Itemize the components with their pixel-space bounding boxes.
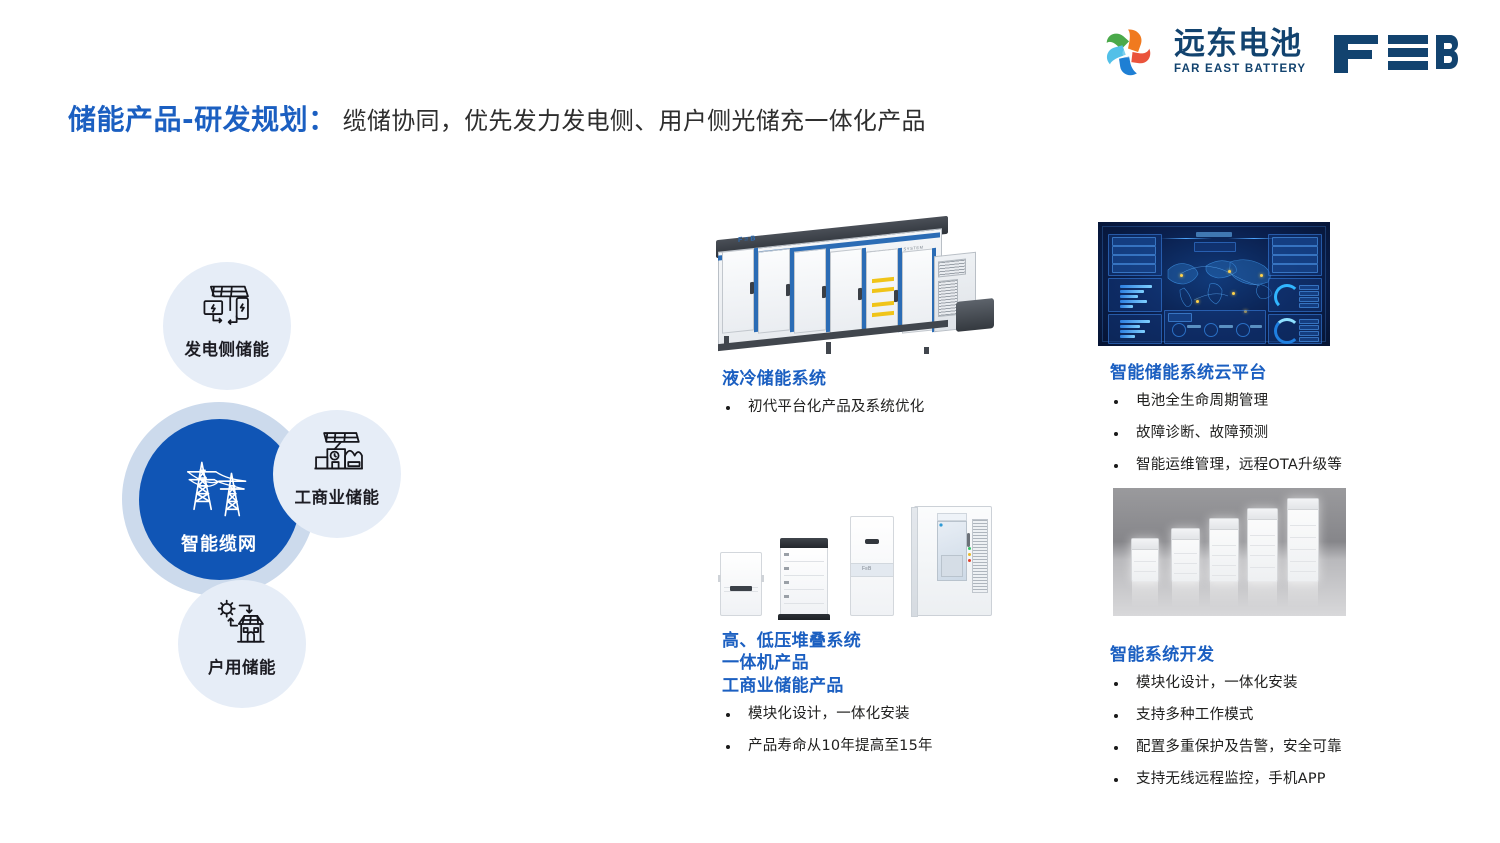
far-east-battery-pinwheel-logo-icon	[1100, 24, 1156, 80]
content-block-smart-system: 智能系统开发 模块化设计，一体化安装 支持多种工作模式 配置多重保护及告警，安全…	[1110, 644, 1342, 802]
solar-grid-storage-icon	[198, 280, 256, 332]
list-item: 支持多种工作模式	[1110, 705, 1342, 726]
page-title-main: 储能产品-研发规划：	[68, 98, 337, 138]
list-item: 模块化设计，一体化安装	[1110, 673, 1342, 694]
scenario-node-commercial-industrial[interactable]: 工商业储能	[273, 410, 401, 538]
block-heading-line: 智能储能系统云平台	[1110, 362, 1342, 384]
feb-wordmark-icon	[1332, 29, 1458, 75]
block-heading-line: 高、低压堆叠系统	[722, 630, 933, 652]
block-heading: 高、低压堆叠系统 一体机产品 工商业储能产品	[722, 630, 933, 697]
center-node-label: 智能缆网	[181, 530, 257, 556]
list-item: 配置多重保护及告警，安全可靠	[1110, 737, 1342, 758]
center-node-smart-cable-grid[interactable]: 智能缆网	[139, 419, 300, 580]
block-bullet-list: 电池全生命周期管理 故障诊断、故障预测 智能运维管理，远程OTA升级等	[1110, 391, 1342, 476]
block-heading: 智能储能系统云平台	[1110, 362, 1342, 384]
house-solar-sun-icon	[213, 598, 271, 650]
list-item: 故障诊断、故障预测	[1110, 423, 1342, 444]
block-bullet-list: 模块化设计，一体化安装 支持多种工作模式 配置多重保护及告警，安全可靠 支持无线…	[1110, 673, 1342, 790]
scenario-node-label: 工商业储能	[295, 484, 380, 508]
page-title-sub: 缆储协同，优先发力发电侧、用户侧光储充一体化产品	[343, 101, 926, 136]
application-scenario-cluster: 智能缆网 发电侧储能	[118, 262, 548, 732]
page-title: 储能产品-研发规划： 缆储协同，优先发力发电侧、用户侧光储充一体化产品	[68, 98, 926, 138]
stacked-battery-products-photo: F≡B	[706, 495, 996, 620]
brand-name: 远东电池 FAR EAST BATTERY	[1174, 28, 1306, 77]
block-heading-line: 工商业储能产品	[722, 675, 933, 697]
battery-tower-lineup-photo	[1113, 488, 1346, 616]
list-item: 支持无线远程监控，手机APP	[1110, 769, 1342, 790]
scenario-node-label: 发电侧储能	[185, 336, 270, 360]
liquid-cooled-container-ess-photo: F≡B ENERGY STORAGE SYSTEM	[706, 214, 996, 354]
list-item: 产品寿命从10年提高至15年	[722, 736, 933, 757]
list-item: 初代平台化产品及系统优化	[722, 397, 924, 418]
factory-solar-icon	[308, 428, 366, 480]
brand-name-cn: 远东电池	[1174, 28, 1306, 61]
list-item: 模块化设计，一体化安装	[722, 704, 933, 725]
block-bullet-list: 模块化设计，一体化安装 产品寿命从10年提高至15年	[722, 704, 933, 757]
block-bullet-list: 初代平台化产品及系统优化	[722, 397, 924, 418]
brand-name-en: FAR EAST BATTERY	[1174, 62, 1306, 76]
slide-root: 远东电池 FAR EAST BATTERY 储能产品-研发规划： 缆储协同，优先…	[0, 0, 1500, 843]
transmission-tower-icon	[180, 450, 258, 528]
block-heading: 智能系统开发	[1110, 644, 1342, 666]
block-heading-line: 智能系统开发	[1110, 644, 1342, 666]
brand-logo: 远东电池 FAR EAST BATTERY	[1100, 24, 1458, 80]
content-block-liquid-cooled: 液冷储能系统 初代平台化产品及系统优化	[722, 368, 924, 429]
scenario-node-generation-side[interactable]: 发电侧储能	[163, 262, 291, 390]
content-block-stack-systems: 高、低压堆叠系统 一体机产品 工商业储能产品 模块化设计，一体化安装 产品寿命从…	[722, 630, 933, 768]
list-item: 电池全生命周期管理	[1110, 391, 1342, 412]
block-heading: 液冷储能系统	[722, 368, 924, 390]
scenario-node-label: 户用储能	[208, 654, 276, 678]
list-item: 智能运维管理，远程OTA升级等	[1110, 455, 1342, 476]
content-block-cloud-platform: 智能储能系统云平台 电池全生命周期管理 故障诊断、故障预测 智能运维管理，远程O…	[1110, 362, 1342, 487]
block-heading-line: 液冷储能系统	[722, 368, 924, 390]
block-heading-line: 一体机产品	[722, 652, 933, 674]
smart-energy-cloud-dashboard-photo	[1098, 222, 1330, 346]
scenario-node-residential[interactable]: 户用储能	[178, 580, 306, 708]
